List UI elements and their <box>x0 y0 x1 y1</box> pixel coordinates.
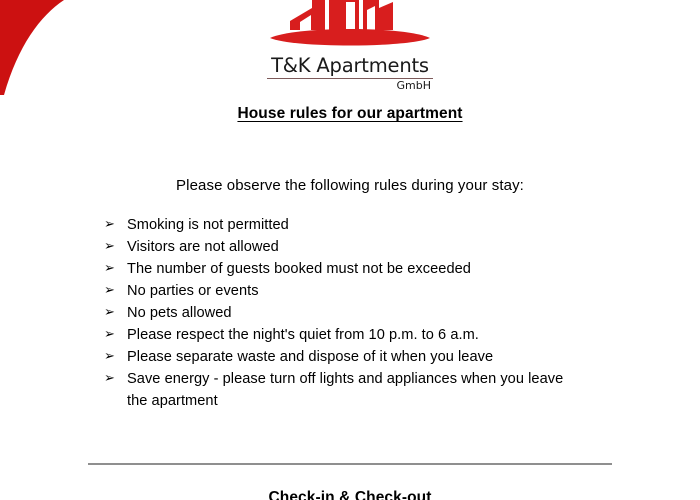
arrow-bullet-icon: ➢ <box>104 258 127 280</box>
logo-wordmark: T&K Apartments GmbH <box>267 56 433 93</box>
intro-text: Please observe the following rules durin… <box>0 177 700 194</box>
house-rule-item: ➢No parties or events <box>104 280 660 302</box>
footer-section-heading: Check-in & Check-out <box>0 489 700 500</box>
house-rule-text: Smoking is not permitted <box>127 214 660 236</box>
company-logo: T&K Apartments GmbH <box>0 0 700 93</box>
arrow-bullet-icon: ➢ <box>104 280 127 302</box>
house-rule-text: No parties or events <box>127 280 660 302</box>
arrow-bullet-icon: ➢ <box>104 236 127 258</box>
house-rule-text: The number of guests booked must not be … <box>127 258 660 280</box>
house-rules-list: ➢Smoking is not permitted➢Visitors are n… <box>104 214 660 412</box>
arrow-bullet-icon: ➢ <box>104 302 127 324</box>
footer-divider <box>88 463 612 465</box>
house-rule-text: Visitors are not allowed <box>127 236 660 258</box>
page-title: House rules for our apartment <box>0 105 700 123</box>
arrow-bullet-icon: ➢ <box>104 368 127 390</box>
house-rule-text: Please respect the night's quiet from 10… <box>127 324 660 346</box>
footer-section-heading-text: Check-in & Check-out <box>268 490 431 500</box>
house-rule-text: Please separate waste and dispose of it … <box>127 346 660 368</box>
arrow-bullet-icon: ➢ <box>104 324 127 346</box>
house-rule-item: ➢Please separate waste and dispose of it… <box>104 346 660 368</box>
arrow-bullet-icon: ➢ <box>104 346 127 368</box>
house-rule-text-continuation: the apartment <box>127 390 660 412</box>
house-rule-item: ➢Please respect the night's quiet from 1… <box>104 324 660 346</box>
house-rule-text: Save energy - please turn off lights and… <box>127 368 660 412</box>
house-rule-item: ➢Visitors are not allowed <box>104 236 660 258</box>
logo-company-suffix: GmbH <box>267 80 433 92</box>
house-rule-text: No pets allowed <box>127 302 660 324</box>
house-rule-item: ➢Save energy - please turn off lights an… <box>104 368 660 412</box>
house-rule-item: ➢No pets allowed <box>104 302 660 324</box>
arrow-bullet-icon: ➢ <box>104 214 127 236</box>
house-rule-item: ➢The number of guests booked must not be… <box>104 258 660 280</box>
logo-company-name: T&K Apartments <box>267 56 433 76</box>
house-rule-item: ➢Smoking is not permitted <box>104 214 660 236</box>
buildings-logo-icon <box>267 0 433 58</box>
house-rules-document: T&K Apartments GmbH House rules for our … <box>0 0 700 500</box>
